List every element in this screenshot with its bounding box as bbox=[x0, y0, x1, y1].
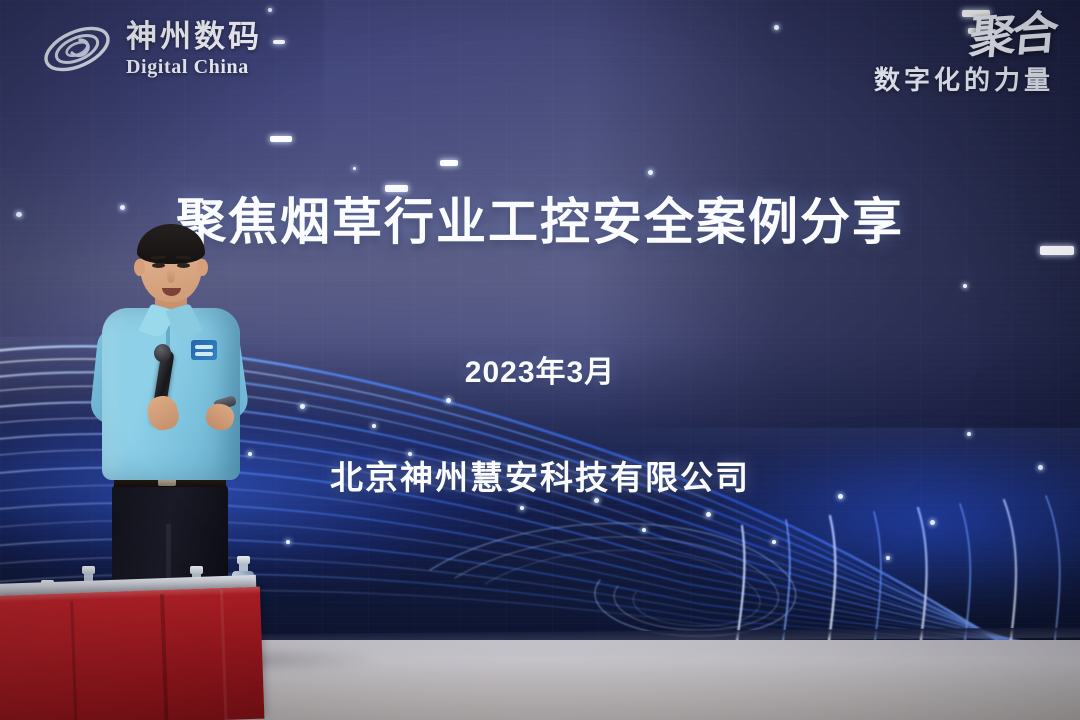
event-tagline: 数字化的力量 bbox=[874, 60, 1054, 97]
particle-streak bbox=[270, 136, 292, 142]
event-logo: 聚合 数字化的力量 bbox=[874, 14, 1054, 97]
speaker-polo-shirt bbox=[102, 308, 240, 480]
speaker-hair bbox=[137, 224, 205, 264]
cloth-fold bbox=[220, 590, 228, 720]
bottle-cap bbox=[237, 556, 250, 564]
digital-china-swirl-icon bbox=[40, 18, 114, 80]
stage-photo: 神州数码 Digital China 聚合 数字化的力量 聚焦烟草行业工控安全案… bbox=[0, 0, 1080, 720]
speaker-eye-right bbox=[177, 263, 190, 268]
speaker-ear-right bbox=[197, 259, 208, 276]
digital-china-chinese-name: 神州数码 bbox=[126, 21, 262, 52]
event-calligraphy: 聚合 bbox=[968, 11, 1057, 60]
bottle-cap bbox=[82, 566, 95, 574]
wave-glow-right bbox=[500, 410, 1080, 648]
speaker-eye-left bbox=[152, 263, 165, 268]
table-cloth bbox=[0, 587, 264, 720]
speaker-shirt-logo-icon bbox=[191, 340, 217, 360]
digital-china-wordmark: 神州数码 Digital China bbox=[126, 21, 262, 77]
particle-streak bbox=[440, 160, 458, 166]
digital-china-logo: 神州数码 Digital China bbox=[40, 18, 262, 80]
bottle-cap bbox=[190, 566, 203, 574]
cloth-fold bbox=[70, 601, 77, 720]
speaker-ear-left bbox=[134, 259, 145, 276]
speaker-person bbox=[96, 228, 246, 598]
speaker-nose bbox=[167, 270, 175, 283]
digital-china-english-name: Digital China bbox=[126, 57, 262, 77]
cloth-fold bbox=[160, 594, 168, 720]
bottle-neck bbox=[239, 564, 248, 571]
particle-streak bbox=[273, 40, 285, 44]
